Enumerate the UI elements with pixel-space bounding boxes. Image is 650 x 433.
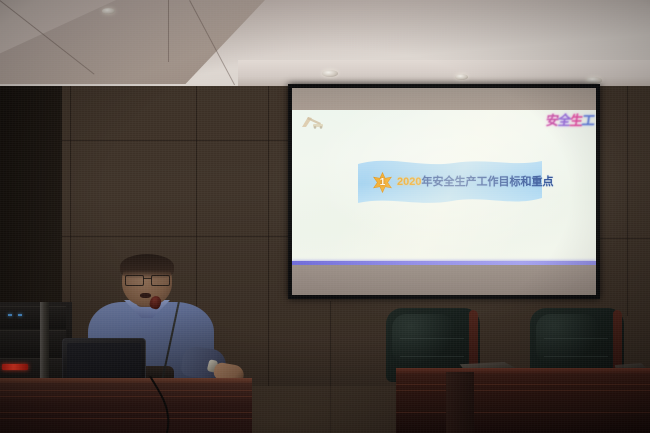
rack-unit-1 — [0, 306, 66, 329]
ceiling-seam-2 — [168, 0, 169, 62]
table-end-panel — [446, 372, 474, 433]
table-trim-2 — [396, 390, 650, 391]
banner-title: 2020年安全生产工作目标和重点 — [397, 177, 553, 188]
badge-number: 1 — [372, 172, 393, 193]
presentation-photo-scene: 安 全 生 工 — [0, 0, 650, 433]
glasses-lens-left — [125, 275, 144, 286]
screen-blank-top — [292, 88, 596, 110]
podium-trim-1 — [0, 390, 252, 391]
ceiling — [0, 0, 650, 96]
table-surface — [396, 368, 650, 374]
laptop-on-podium — [62, 338, 146, 382]
downlight-icon-1 — [102, 8, 115, 14]
rack-indicator-led-1 — [8, 314, 12, 316]
rack-indicator-led-2 — [18, 314, 22, 316]
presenter-mouth — [140, 293, 151, 298]
glasses-lens-right — [151, 275, 170, 286]
chair-seam-2 — [544, 356, 608, 357]
rack-led-display — [2, 364, 28, 370]
chair-seam-2 — [400, 356, 464, 357]
conference-table — [396, 368, 650, 433]
banner-title-year: 2020 — [397, 176, 421, 188]
chair-seam-1 — [544, 338, 608, 339]
rack-mounting-post — [40, 302, 49, 388]
banner-content: 1 2020年安全生产工作目标和重点 — [372, 172, 553, 193]
star-badge-icon: 1 — [372, 172, 393, 193]
construction-safety-logo-icon — [299, 114, 329, 129]
podium-trim-2 — [0, 396, 252, 397]
laptop-lid — [62, 338, 146, 382]
banner-title-text: 年安全生产工作目标和重点 — [421, 176, 553, 188]
screen-surface: 安 全 生 工 — [292, 88, 596, 295]
chair-seam-1 — [400, 338, 464, 339]
presentation-slide: 安 全 生 工 — [292, 110, 596, 265]
screen-blank-bottom — [292, 265, 596, 295]
projection-screen: 安 全 生 工 — [288, 84, 600, 299]
podium-surface — [0, 378, 252, 383]
slide-ribbon-banner: 1 2020年安全生产工作目标和重点 — [358, 158, 542, 208]
safety-production-logo-icon: 安 全 生 工 — [545, 112, 595, 129]
table-trim-1 — [396, 384, 650, 385]
podium-trim-4 — [0, 418, 252, 419]
table-trim-3 — [396, 412, 650, 413]
wooden-podium — [0, 378, 252, 433]
podium-trim-3 — [0, 412, 252, 413]
wall-panel-seam-v5 — [627, 86, 628, 316]
downlight-icon-2 — [322, 70, 338, 77]
logo-char-4: 工 — [581, 114, 595, 127]
hanging-cable — [148, 376, 188, 433]
downlight-icon-3 — [455, 74, 468, 80]
downlight-icon-4 — [586, 77, 602, 84]
glasses-icon — [124, 275, 171, 284]
rack-unit-2 — [0, 330, 66, 357]
laptop-screen — [67, 343, 141, 377]
